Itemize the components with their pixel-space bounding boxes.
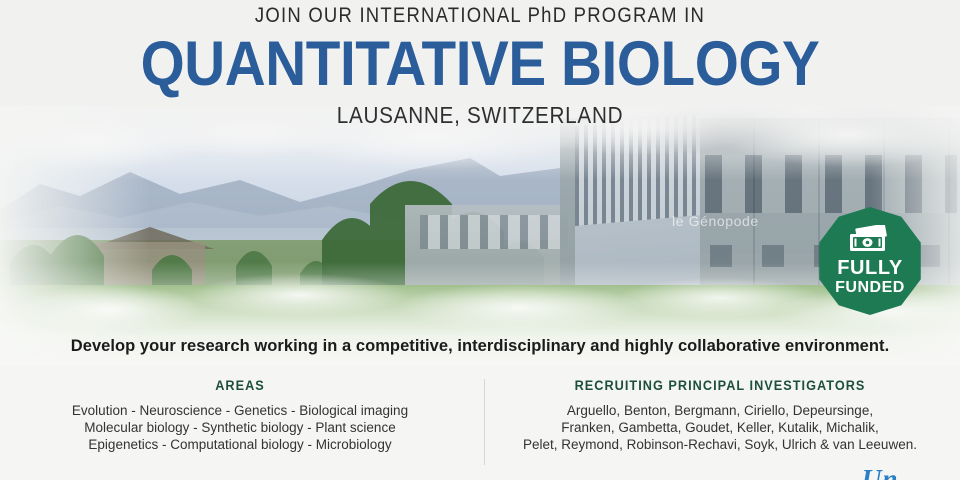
areas-line: Epigenetics - Computational biology - Mi…: [0, 436, 480, 453]
mist-fade-bottom: [0, 262, 960, 382]
investigators-line: Franken, Gambetta, Goudet, Keller, Kutal…: [480, 419, 960, 436]
banknotes-icon: [847, 225, 893, 255]
university-logo: Un: [862, 464, 899, 480]
investigators-line: Arguello, Benton, Bergmann, Ciriello, De…: [480, 402, 960, 419]
building-annex-windows: [420, 215, 570, 249]
page-title: QUANTITATIVE BIOLOGY: [48, 33, 912, 96]
badge-line-1: FULLY: [837, 258, 903, 278]
poster-root: le Génopode JOIN OUR INTERNATIONAL PhD P…: [0, 0, 960, 480]
areas-line: Molecular biology - Synthetic biology - …: [0, 419, 480, 436]
page-subtitle: LAUSANNE, SWITZERLAND: [48, 102, 912, 129]
column-areas: AREAS Evolution - Neuroscience - Genetic…: [0, 378, 480, 476]
kicker-text: JOIN OUR INTERNATIONAL PhD PROGRAM IN: [58, 4, 903, 28]
building-name-label: le Génopode: [672, 213, 759, 229]
column-investigators: RECRUITING PRINCIPAL INVESTIGATORS Argue…: [480, 378, 960, 476]
header-block: JOIN OUR INTERNATIONAL PhD PROGRAM IN QU…: [0, 0, 960, 129]
investigators-heading: RECRUITING PRINCIPAL INVESTIGATORS: [494, 378, 945, 393]
columns-block: AREAS Evolution - Neuroscience - Genetic…: [0, 378, 960, 476]
areas-heading: AREAS: [14, 378, 465, 393]
badge-line-2: FUNDED: [835, 279, 905, 297]
tagline-text: Develop your research working in a compe…: [0, 337, 960, 356]
investigators-list: Arguello, Benton, Bergmann, Ciriello, De…: [480, 402, 960, 453]
areas-list: Evolution - Neuroscience - Genetics - Bi…: [0, 402, 480, 453]
investigators-line: Pelet, Reymond, Robinson-Rechavi, Soyk, …: [480, 436, 960, 453]
areas-line: Evolution - Neuroscience - Genetics - Bi…: [0, 402, 480, 419]
